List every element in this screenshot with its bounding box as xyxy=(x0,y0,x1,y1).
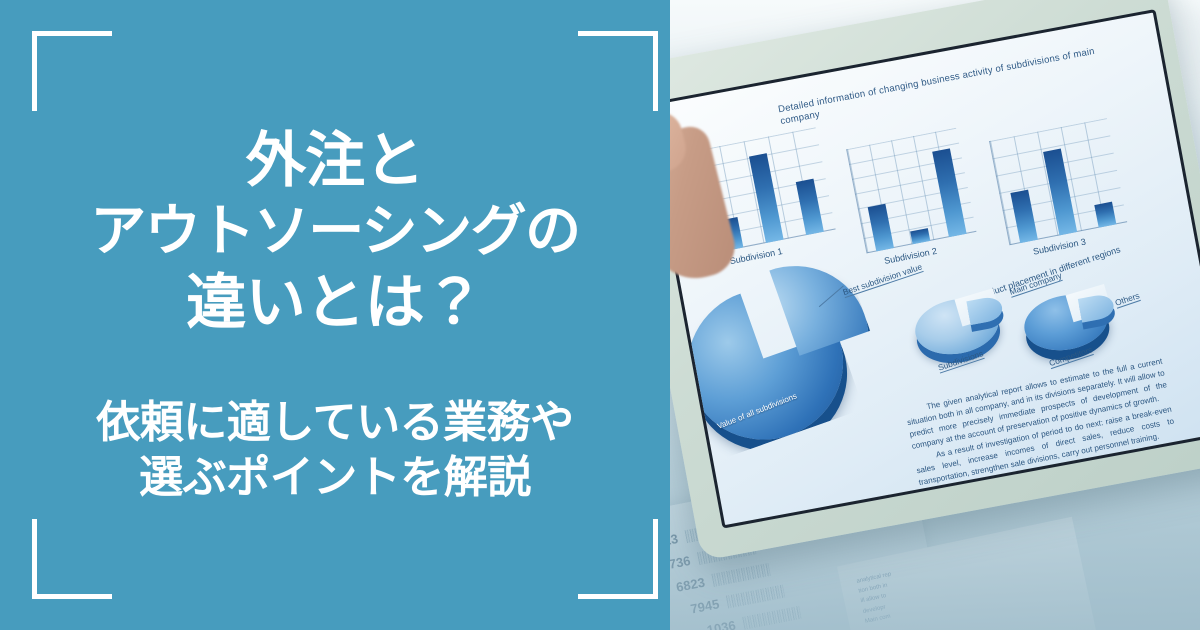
title-line-1: 外注と xyxy=(90,124,579,197)
page-subtitle: 依頼に適している業務や 選ぶポイントを解説 xyxy=(96,395,573,506)
report-slide: Detailed information of changing busines… xyxy=(670,13,1200,526)
subtitle-line-2: 選ぶポイントを解説 xyxy=(96,450,573,505)
callout-best-subdivision-value: Best subdivision value xyxy=(842,261,924,297)
chart-x-axis-label: Subdivision 1 xyxy=(729,246,783,266)
subtitle-line-1: 依頼に適している業務や xyxy=(96,395,573,450)
chart-bars xyxy=(846,128,976,254)
bar-chart-subdivision-3: Subdivision 3 xyxy=(989,118,1127,245)
chart-x-axis-label: Subdivision 3 xyxy=(1032,237,1086,257)
bar xyxy=(1010,190,1037,243)
tablet-screen[interactable]: Detailed information of changing busines… xyxy=(670,9,1200,529)
pie-wedge xyxy=(1078,293,1116,323)
bar xyxy=(1094,201,1116,227)
chart-x-axis-label: Subdivision 2 xyxy=(883,246,937,266)
chart-main-title: Detailed information of changing busines… xyxy=(777,44,1106,127)
tablet-device: Detailed information of changing busines… xyxy=(670,0,1200,561)
report-body-text: The given analytical report allows to es… xyxy=(904,356,1178,490)
title-text-stack: 外注と アウトソーシングの 違いとは？ 依頼に適している業務や 選ぶポイントを解… xyxy=(0,0,670,630)
bar xyxy=(933,148,967,237)
bar xyxy=(1043,149,1077,236)
bar xyxy=(867,204,893,251)
bar xyxy=(796,179,824,236)
pie-wedge xyxy=(966,295,1004,325)
callout-others: Others xyxy=(1114,290,1141,307)
thumbnail-canvas: 外注と アウトソーシングの 違いとは？ 依頼に適している業務や 選ぶポイントを解… xyxy=(0,0,1200,630)
bar xyxy=(749,153,784,243)
left-title-panel: 外注と アウトソーシングの 違いとは？ 依頼に適している業務や 選ぶポイントを解… xyxy=(0,0,670,630)
bar-chart-subdivision-2: Subdivision 2 xyxy=(846,128,976,254)
page-title: 外注と アウトソーシングの 違いとは？ xyxy=(90,124,579,339)
chart-bars xyxy=(989,118,1127,245)
bar xyxy=(910,228,930,244)
title-line-3: 違いとは？ xyxy=(90,266,579,339)
title-line-2: アウトソーシングの xyxy=(90,197,579,265)
tablet-photo: 4613 5736 6823 7945 1036 413 analytical … xyxy=(670,0,1200,630)
